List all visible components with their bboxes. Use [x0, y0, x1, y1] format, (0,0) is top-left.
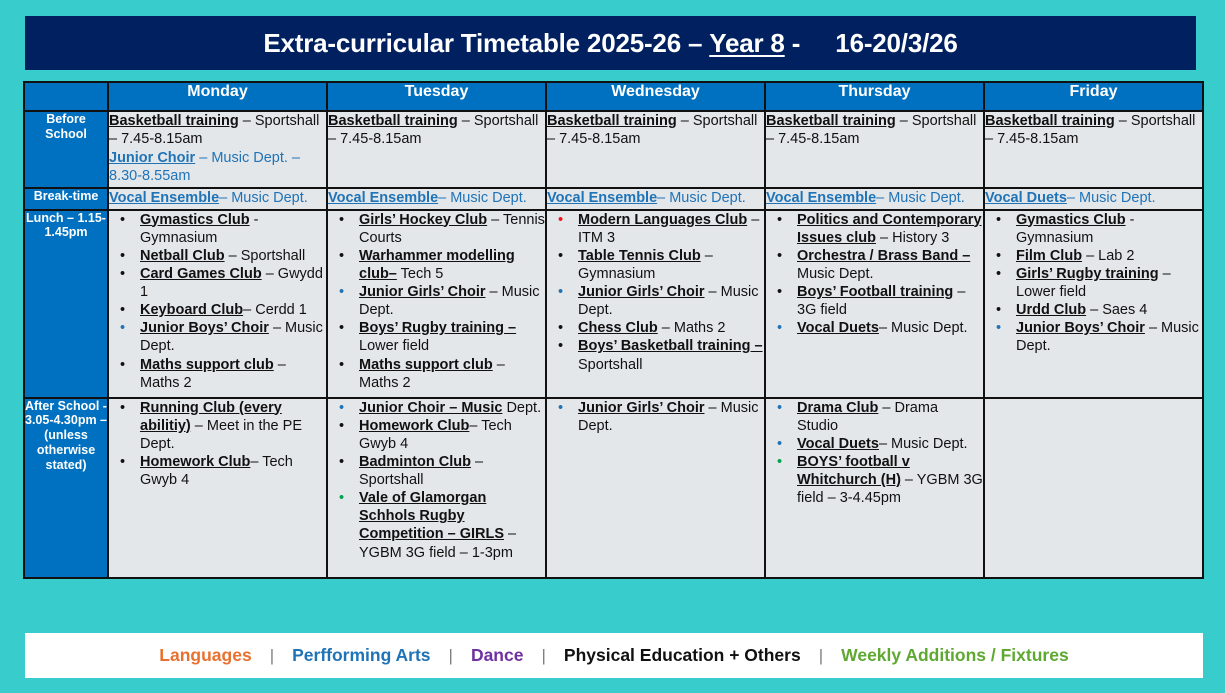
activity-name: Basketball training	[547, 113, 677, 129]
table-row: After School - 3.05-4.30pm – (unless oth…	[24, 398, 1203, 578]
cell-thursday: •Drama Club – Drama Studio•Vocal Duets– …	[765, 398, 984, 578]
activity-detail: – Music Dept.	[438, 190, 527, 206]
activity-list: •Gymastics Club - Gymnasium•Netball Club…	[109, 211, 326, 392]
day-header-thursday: Thursday	[765, 82, 984, 111]
list-item: •Politics and Contemporary Issues club –…	[769, 211, 983, 247]
list-item: •Running Club (every abilitiy) – Meet in…	[112, 399, 326, 453]
activity-detail: – Music Dept.	[1067, 190, 1156, 206]
cell-monday: •Running Club (every abilitiy) – Meet in…	[108, 398, 327, 578]
activity-name: Vocal Duets	[985, 190, 1067, 206]
list-item: •Maths support club – Maths 2	[331, 356, 545, 392]
list-item: •Urdd Club – Saes 4	[988, 301, 1202, 319]
cell-friday: •Gymastics Club - Gymnasium•Film Club – …	[984, 210, 1203, 398]
bullet-icon: •	[339, 211, 344, 229]
bullet-icon: •	[339, 283, 344, 301]
activity-name: Boys’ Basketball training –	[578, 338, 763, 354]
activity-name: Chess Club	[578, 320, 658, 336]
list-item: • Boys’ Football training – 3G field	[769, 283, 983, 319]
table-row: Break-timeVocal Ensemble– Music Dept.Voc…	[24, 188, 1203, 210]
activity-name: Junior Boys’ Choir	[140, 320, 269, 336]
activity-name: Urdd Club	[1016, 302, 1086, 318]
header-corner-cell	[24, 82, 108, 111]
cell-wednesday: •Modern Languages Club – ITM 3•Table Ten…	[546, 210, 765, 398]
cell-wednesday: Vocal Ensemble– Music Dept.	[546, 188, 765, 210]
activity-detail: – Music Dept.	[657, 190, 746, 206]
bullet-icon: •	[120, 453, 125, 471]
cell-thursday: Basketball training – Sportshall – 7.45-…	[765, 111, 984, 188]
list-item: •Girls’ Rugby training – Lower field	[988, 265, 1202, 301]
list-item: •Homework Club– Tech Gwyb 4	[331, 417, 545, 453]
activity-name: Badminton Club	[359, 454, 471, 470]
bullet-icon: •	[558, 247, 563, 265]
list-item: •Junior Choir – Music Dept.	[331, 399, 545, 417]
activity-name: Boys’ Football training	[797, 284, 953, 300]
activity-name: Basketball training	[328, 113, 458, 129]
activity-name: Vocal Duets	[797, 436, 879, 452]
day-header-tuesday: Tuesday	[327, 82, 546, 111]
bullet-icon: •	[558, 337, 563, 355]
activity-detail: Music Dept.	[797, 266, 874, 282]
bullet-icon: •	[777, 399, 782, 417]
cell-friday: Vocal Duets– Music Dept.	[984, 188, 1203, 210]
activity-name: Gymastics Club	[140, 212, 250, 228]
bullet-icon: •	[996, 211, 1001, 229]
activity-line: Basketball training – Sportshall – 7.45-…	[985, 112, 1202, 148]
activity-name: Junior Choir – Music	[359, 400, 502, 416]
page-title: Extra-curricular Timetable 2025-26 – Yea…	[263, 28, 957, 59]
activity-detail: – History 3	[876, 230, 949, 246]
cell-friday	[984, 398, 1203, 578]
bullet-icon: •	[120, 265, 125, 283]
activity-name: Modern Languages Club	[578, 212, 747, 228]
bullet-icon: •	[120, 399, 125, 417]
activity-name: Junior Girls’ Choir	[578, 284, 705, 300]
list-item: •Vocal Duets– Music Dept.	[769, 435, 983, 453]
legend-separator: |	[815, 646, 827, 666]
activity-detail: – Lab 2	[1082, 248, 1134, 264]
activity-list: •Drama Club – Drama Studio•Vocal Duets– …	[766, 399, 983, 508]
cell-monday: Vocal Ensemble– Music Dept.	[108, 188, 327, 210]
activity-name: Orchestra / Brass Band –	[797, 248, 970, 264]
activity-line: Basketball training – Sportshall – 7.45-…	[328, 112, 545, 148]
activity-name: Table Tennis Club	[578, 248, 701, 264]
activity-line: Vocal Ensemble– Music Dept.	[766, 189, 983, 207]
activity-name: Boys’ Rugby training –	[359, 320, 516, 336]
title-prefix: Extra-curricular Timetable 2025-26 –	[263, 28, 709, 59]
title-suffix: - 16-20/3/26	[785, 28, 958, 59]
bullet-icon: •	[777, 453, 782, 471]
timetable-body: Before SchoolBasketball training – Sport…	[24, 111, 1203, 578]
activity-line: Vocal Ensemble– Music Dept.	[547, 189, 764, 207]
activity-line: Basketball training – Sportshall – 7.45-…	[766, 112, 983, 148]
activity-list: •Politics and Contemporary Issues club –…	[766, 211, 983, 338]
list-item: •Junior Boys’ Choir – Music Dept.	[988, 319, 1202, 355]
list-item: •Drama Club – Drama Studio	[769, 399, 983, 435]
activity-name: Card Games Club	[140, 266, 262, 282]
activity-detail: – Music Dept.	[876, 190, 965, 206]
activity-name: Gymastics Club	[1016, 212, 1126, 228]
bullet-icon: •	[339, 489, 344, 507]
activity-name: Girls’ Rugby training	[1016, 266, 1159, 282]
list-item: •Gymastics Club - Gymnasium	[988, 211, 1202, 247]
list-item: •Modern Languages Club – ITM 3	[550, 211, 764, 247]
activity-name: BOYS’ football v Whitchurch (H)	[797, 454, 910, 488]
table-row: Before SchoolBasketball training – Sport…	[24, 111, 1203, 188]
bullet-icon: •	[558, 319, 563, 337]
list-item: •Maths support club – Maths 2	[112, 356, 326, 392]
cell-tuesday: Basketball training – Sportshall – 7.45-…	[327, 111, 546, 188]
legend-bar: Languages|Perfforming Arts|Dance|Physica…	[25, 633, 1203, 678]
activity-name: Basketball training	[985, 113, 1115, 129]
bullet-icon: •	[120, 211, 125, 229]
activity-name: Junior Girls’ Choir	[578, 400, 705, 416]
cell-thursday: •Politics and Contemporary Issues club –…	[765, 210, 984, 398]
bullet-icon: •	[996, 319, 1001, 337]
activity-detail: – Music Dept.	[879, 436, 968, 452]
activity-name: Vocal Duets	[797, 320, 879, 336]
legend-separator: |	[537, 646, 549, 666]
activity-name: Vocal Ensemble	[328, 190, 438, 206]
bullet-icon: •	[120, 356, 125, 374]
activity-detail: Tech 5	[397, 266, 444, 282]
list-item: •Homework Club– Tech Gwyb 4	[112, 453, 326, 489]
activity-name: Homework Club	[359, 418, 469, 434]
legend-item-perfforming-arts: Perfforming Arts	[278, 645, 444, 666]
activity-name: Maths support club	[140, 357, 274, 373]
activity-name: Basketball training	[766, 113, 896, 129]
activity-detail: Lower field	[359, 338, 429, 354]
bullet-icon: •	[339, 399, 344, 417]
day-header-friday: Friday	[984, 82, 1203, 111]
bullet-icon: •	[558, 211, 563, 229]
activity-detail: Dept.	[502, 400, 541, 416]
activity-name: Maths support club	[359, 357, 493, 373]
list-item: •Keyboard Club– Cerdd 1	[112, 301, 326, 319]
legend-item-languages: Languages	[145, 645, 265, 666]
activity-detail: – Maths 2	[658, 320, 726, 336]
row-label-1: Break-time	[24, 188, 108, 210]
activity-detail: Sportshall	[578, 357, 642, 373]
legend-item-physical-education-others: Physical Education + Others	[550, 645, 815, 666]
list-item: •Table Tennis Club – Gymnasium	[550, 247, 764, 283]
activity-line: Vocal Duets– Music Dept.	[985, 189, 1202, 207]
list-item: •Card Games Club – Gwydd 1	[112, 265, 326, 301]
bullet-icon: •	[996, 265, 1001, 283]
list-item: •Netball Club – Sportshall	[112, 247, 326, 265]
cell-tuesday: Vocal Ensemble– Music Dept.	[327, 188, 546, 210]
bullet-icon: •	[339, 453, 344, 471]
list-item: •Vocal Duets– Music Dept.	[769, 319, 983, 337]
activity-line: Vocal Ensemble– Music Dept.	[109, 189, 326, 207]
activity-list: •Modern Languages Club – ITM 3•Table Ten…	[547, 211, 764, 374]
list-item: •Junior Girls’ Choir – Music Dept.	[331, 283, 545, 319]
bullet-icon: •	[777, 283, 782, 301]
table-header-row: Monday Tuesday Wednesday Thursday Friday	[24, 82, 1203, 111]
activity-name: Girls’ Hockey Club	[359, 212, 487, 228]
bullet-icon: •	[120, 301, 125, 319]
activity-name: Junior Choir	[109, 150, 195, 166]
activity-line: Vocal Ensemble– Music Dept.	[328, 189, 545, 207]
list-item: •Warhammer modelling club– Tech 5	[331, 247, 545, 283]
list-item: •Junior Girls’ Choir – Music Dept.	[550, 399, 764, 435]
cell-wednesday: •Junior Girls’ Choir – Music Dept.	[546, 398, 765, 578]
row-label-3: After School - 3.05-4.30pm – (unless oth…	[24, 398, 108, 578]
legend-item-weekly-additions-fixtures: Weekly Additions / Fixtures	[827, 645, 1083, 666]
cell-tuesday: •Girls’ Hockey Club – Tennis Courts•Warh…	[327, 210, 546, 398]
activity-list: •Junior Girls’ Choir – Music Dept.	[547, 399, 764, 435]
cell-friday: Basketball training – Sportshall – 7.45-…	[984, 111, 1203, 188]
activity-name: Film Club	[1016, 248, 1082, 264]
activity-list: •Gymastics Club - Gymnasium•Film Club – …	[985, 211, 1202, 356]
bullet-icon: •	[558, 283, 563, 301]
list-item: •Gymastics Club - Gymnasium	[112, 211, 326, 247]
bullet-icon: •	[339, 417, 344, 435]
list-item: •Orchestra / Brass Band – Music Dept.	[769, 247, 983, 283]
activity-name: Vocal Ensemble	[547, 190, 657, 206]
activity-detail: – Cerdd 1	[243, 302, 307, 318]
activity-name: Vocal Ensemble	[766, 190, 876, 206]
row-label-2: Lunch – 1.15-1.45pm	[24, 210, 108, 398]
list-item: •BOYS’ football v Whitchurch (H) – YGBM …	[769, 453, 983, 507]
activity-name: Vocal Ensemble	[109, 190, 219, 206]
bullet-icon: •	[558, 399, 563, 417]
activity-line: Junior Choir – Music Dept. – 8.30-8.55am	[109, 149, 326, 185]
list-item: •Chess Club – Maths 2	[550, 319, 764, 337]
timetable-page: Extra-curricular Timetable 2025-26 – Yea…	[0, 0, 1225, 693]
cell-thursday: Vocal Ensemble– Music Dept.	[765, 188, 984, 210]
row-label-0: Before School	[24, 111, 108, 188]
title-year: Year 8	[709, 28, 784, 59]
list-item: •Boys’ Rugby training – Lower field	[331, 319, 545, 355]
activity-line: Basketball training – Sportshall – 7.45-…	[547, 112, 764, 148]
activity-name: Junior Girls’ Choir	[359, 284, 486, 300]
activity-list: •Junior Choir – Music Dept.•Homework Clu…	[328, 399, 545, 562]
list-item: •Badminton Club – Sportshall	[331, 453, 545, 489]
bullet-icon: •	[120, 247, 125, 265]
activity-line: Basketball training – Sportshall – 7.45-…	[109, 112, 326, 148]
cell-monday: •Gymastics Club - Gymnasium•Netball Club…	[108, 210, 327, 398]
day-header-wednesday: Wednesday	[546, 82, 765, 111]
activity-detail: – Music Dept.	[879, 320, 968, 336]
cell-tuesday: •Junior Choir – Music Dept.•Homework Clu…	[327, 398, 546, 578]
legend-separator: |	[266, 646, 278, 666]
bullet-icon: •	[777, 247, 782, 265]
legend-separator: |	[445, 646, 457, 666]
activity-list: •Girls’ Hockey Club – Tennis Courts•Warh…	[328, 211, 545, 392]
list-item: •Film Club – Lab 2	[988, 247, 1202, 265]
activity-detail: – Saes 4	[1086, 302, 1147, 318]
activity-name: Keyboard Club	[140, 302, 243, 318]
bullet-icon: •	[339, 319, 344, 337]
activity-detail: – Sportshall	[225, 248, 306, 264]
cell-monday: Basketball training – Sportshall – 7.45-…	[108, 111, 327, 188]
bullet-icon: •	[777, 319, 782, 337]
list-item: •Girls’ Hockey Club – Tennis Courts	[331, 211, 545, 247]
list-item: •Vale of Glamorgan Schhols Rugby Competi…	[331, 489, 545, 562]
bullet-icon: •	[996, 247, 1001, 265]
activity-name: Junior Boys’ Choir	[1016, 320, 1145, 336]
legend-item-dance: Dance	[457, 645, 538, 666]
bullet-icon: •	[777, 211, 782, 229]
bullet-icon: •	[339, 247, 344, 265]
bullet-icon: •	[996, 301, 1001, 319]
list-item: •Junior Girls’ Choir – Music Dept.	[550, 283, 764, 319]
page-title-bar: Extra-curricular Timetable 2025-26 – Yea…	[25, 16, 1196, 70]
activity-detail: – Music Dept.	[219, 190, 308, 206]
activity-name: Homework Club	[140, 454, 250, 470]
bullet-icon: •	[777, 435, 782, 453]
activity-name: Drama Club	[797, 400, 878, 416]
day-header-monday: Monday	[108, 82, 327, 111]
timetable: Monday Tuesday Wednesday Thursday Friday…	[23, 81, 1204, 579]
list-item: •Boys’ Basketball training – Sportshall	[550, 337, 764, 373]
bullet-icon: •	[339, 356, 344, 374]
activity-list: •Running Club (every abilitiy) – Meet in…	[109, 399, 326, 490]
bullet-icon: •	[120, 319, 125, 337]
list-item: •Junior Boys’ Choir – Music Dept.	[112, 319, 326, 355]
table-row: Lunch – 1.15-1.45pm•Gymastics Club - Gym…	[24, 210, 1203, 398]
cell-wednesday: Basketball training – Sportshall – 7.45-…	[546, 111, 765, 188]
activity-name: Vale of Glamorgan Schhols Rugby Competit…	[359, 490, 504, 542]
activity-name: Basketball training	[109, 113, 239, 129]
activity-name: Netball Club	[140, 248, 225, 264]
